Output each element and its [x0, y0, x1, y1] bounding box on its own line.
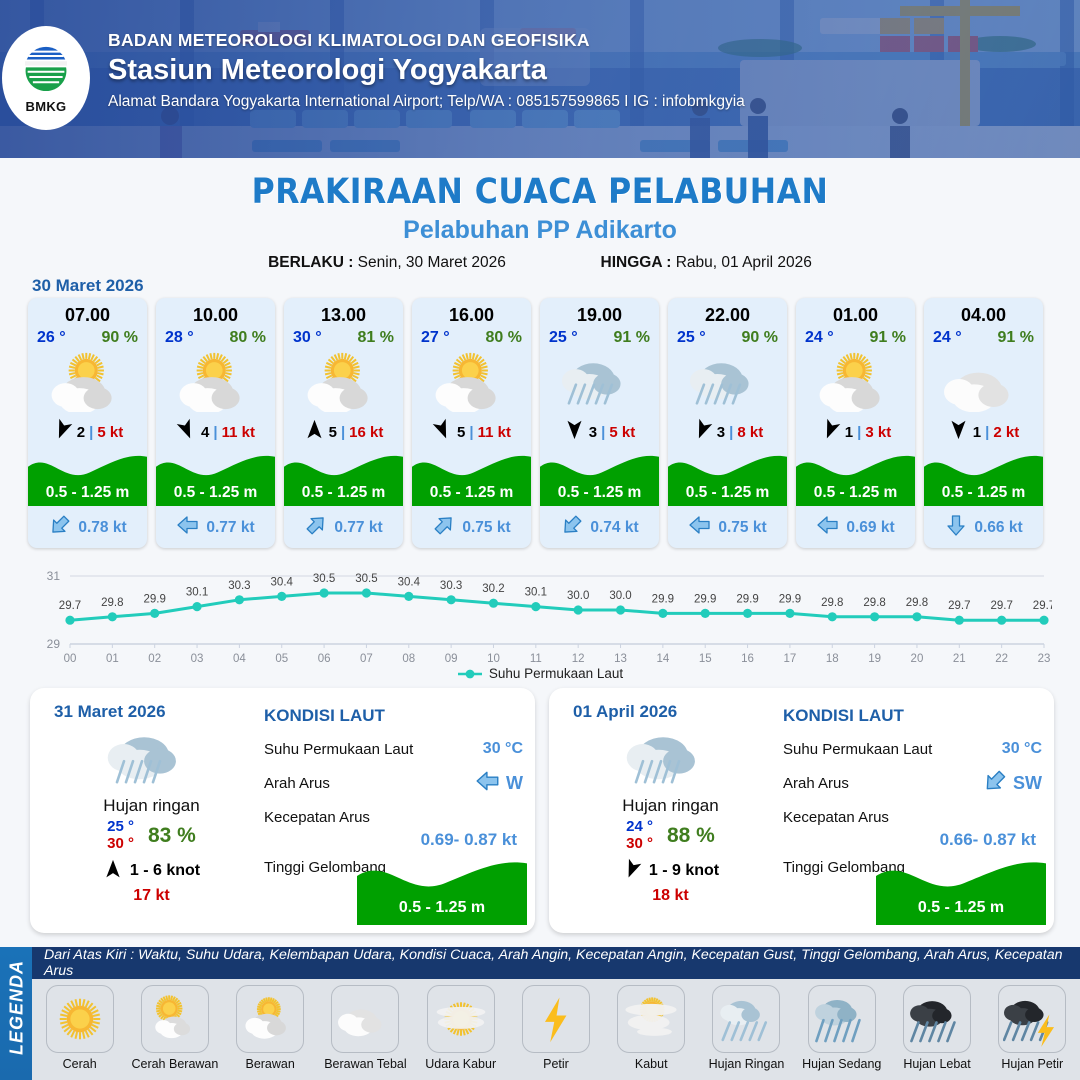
gust-value: 5 kt	[97, 424, 123, 441]
forecast-humidity: 90 %	[742, 329, 778, 347]
current-direction-arrow-icon	[944, 513, 968, 542]
wave-height-block: 0.5 - 1.25 m	[28, 450, 147, 506]
current-speed-label: Kecepatan Arus	[783, 809, 889, 826]
current-speed-value: 0.75 kt	[462, 519, 510, 537]
current-direction-value-group: W	[475, 768, 523, 799]
current-speed-row: Kecepatan Arus	[264, 800, 523, 834]
forecast-card: 16.00 27 ° 80 % 5 | 11 kt 0.5 - 1.25 m 0…	[412, 298, 531, 548]
legend-item-label: Petir	[543, 1057, 569, 1071]
wave-height-block: 0.5 - 1.25 m	[540, 450, 659, 506]
day-wave-value: 0.5 - 1.25 m	[357, 899, 527, 917]
wind-speed-value: 1	[973, 424, 981, 441]
weather-sun-cloud-icon	[412, 349, 531, 413]
forecast-temp-hum-row: 25 ° 91 %	[540, 326, 659, 347]
legend-rain-heavy-icon	[903, 985, 971, 1053]
wave-height-block: 0.5 - 1.25 m	[412, 450, 531, 506]
current-direction-arrow-icon	[688, 513, 712, 542]
svg-text:29.9: 29.9	[144, 593, 166, 605]
day-summary-panel: 31 Maret 2026 Hujan ringan 25 ° 30 ° 83 …	[30, 688, 535, 933]
legend-item-label: Berawan Tebal	[324, 1057, 406, 1071]
legend-item: Berawan Tebal	[318, 979, 413, 1080]
svg-text:03: 03	[191, 653, 204, 665]
wave-height-value: 0.5 - 1.25 m	[156, 484, 275, 502]
forecast-wind-row: 5 | 16 kt	[284, 417, 403, 447]
svg-text:20: 20	[911, 653, 924, 665]
forecast-time: 19.00	[540, 305, 659, 326]
weather-sun-cloud-icon	[28, 349, 147, 413]
day-wind-range: 1 - 6 knot	[130, 862, 200, 880]
wind-direction-arrow-icon	[304, 419, 325, 445]
legend-rain-thunder-icon	[998, 985, 1066, 1053]
forecast-temperature: 27 °	[421, 329, 450, 347]
svg-text:29.8: 29.8	[906, 597, 928, 609]
day-gust: 17 kt	[44, 887, 259, 905]
weather-sun-cloud-icon	[284, 349, 403, 413]
current-direction-arrow-icon	[48, 513, 72, 542]
current-direction-row: Arah Arus W	[264, 766, 523, 800]
chart-legend-label: Suhu Permukaan Laut	[489, 666, 623, 681]
legend-sun-cloud-small-icon	[141, 985, 209, 1053]
wind-direction-arrow-icon	[692, 419, 713, 445]
wind-direction-arrow-icon	[103, 859, 123, 884]
wind-separator: |	[341, 424, 345, 441]
weather-rain-light-icon	[563, 722, 778, 792]
forecast-time: 13.00	[284, 305, 403, 326]
svg-text:19: 19	[868, 653, 881, 665]
wind-speed-value: 5	[329, 424, 337, 441]
svg-text:00: 00	[64, 653, 77, 665]
legend-item-label: Hujan Lebat	[903, 1057, 970, 1071]
day-wave-value: 0.5 - 1.25 m	[876, 899, 1046, 917]
forecast-temp-hum-row: 24 ° 91 %	[796, 326, 915, 347]
current-speed-label: Kecepatan Arus	[264, 809, 370, 826]
wind-direction-arrow-icon	[432, 419, 453, 445]
weather-sun-cloud-icon	[796, 349, 915, 413]
svg-text:29.9: 29.9	[779, 593, 801, 605]
day-left-block: Hujan ringan 25 ° 30 ° 83 % 1 - 6 knot 1…	[44, 722, 259, 905]
svg-text:30.4: 30.4	[271, 576, 294, 588]
forecast-temp-hum-row: 25 ° 90 %	[668, 326, 787, 347]
forecast-time: 16.00	[412, 305, 531, 326]
svg-text:29.8: 29.8	[821, 597, 843, 609]
legend-rain-light-icon	[712, 985, 780, 1053]
svg-text:29.7: 29.7	[990, 600, 1012, 612]
svg-text:29.9: 29.9	[694, 593, 716, 605]
forecast-temperature: 25 °	[677, 329, 706, 347]
chart-legend-marker-icon	[457, 668, 483, 680]
legend-side-title: LEGENDA	[7, 958, 28, 1058]
svg-text:29.9: 29.9	[652, 593, 674, 605]
forecast-temperature: 25 °	[549, 329, 578, 347]
current-direction-arrow-icon	[816, 513, 840, 542]
svg-text:30.0: 30.0	[567, 590, 589, 602]
forecast-humidity: 91 %	[870, 329, 906, 347]
legend-item-label: Udara Kabur	[425, 1057, 496, 1071]
current-row: 0.75 kt	[412, 513, 531, 542]
page-subtitle: Pelabuhan PP Adikarto	[0, 216, 1080, 245]
current-direction-arrow-icon	[475, 768, 501, 799]
sst-row: Suhu Permukaan Laut 30 °C	[264, 732, 523, 766]
wind-direction-arrow-icon	[820, 419, 841, 445]
wind-separator: |	[213, 424, 217, 441]
wave-height-block: 0.5 - 1.25 m	[284, 450, 403, 506]
forecast-temperature: 24 °	[805, 329, 834, 347]
svg-text:07: 07	[360, 653, 373, 665]
day-wind-row: 1 - 6 knot	[44, 859, 259, 884]
legend-item: Berawan	[223, 979, 318, 1080]
legend-bar: LEGENDA Dari Atas Kiri : Waktu, Suhu Uda…	[0, 947, 1080, 1080]
svg-text:30.3: 30.3	[228, 580, 250, 592]
weather-sun-cloud-icon	[156, 349, 275, 413]
day-condition: Hujan ringan	[44, 796, 259, 816]
forecast-card-row: 07.00 26 ° 90 % 2 | 5 kt 0.5 - 1.25 m 0.…	[28, 298, 1043, 548]
legend-sun-cloud-icon	[236, 985, 304, 1053]
legend-item-label: Berawan	[245, 1057, 294, 1071]
current-speed-row: Kecepatan Arus	[783, 800, 1042, 834]
legend-item: Cerah Berawan	[127, 979, 222, 1080]
svg-text:29.8: 29.8	[863, 597, 885, 609]
legend-item-label: Cerah Berawan	[131, 1057, 218, 1071]
day-temp-min: 25 °	[107, 819, 134, 836]
legend-item-label: Hujan Petir	[1001, 1057, 1063, 1071]
forecast-temperature: 26 °	[37, 329, 66, 347]
forecast-time: 22.00	[668, 305, 787, 326]
legend-lightning-icon	[522, 985, 590, 1053]
forecast-card: 13.00 30 ° 81 % 5 | 16 kt 0.5 - 1.25 m 0…	[284, 298, 403, 548]
forecast-humidity: 91 %	[998, 329, 1034, 347]
valid-until-label: HINGGA :	[601, 254, 672, 271]
svg-text:30.0: 30.0	[609, 590, 631, 602]
svg-text:16: 16	[741, 653, 754, 665]
current-speed-value: 0.66 kt	[974, 519, 1022, 537]
day-wind-row: 1 - 9 knot	[563, 859, 778, 884]
bmkg-logo-mark	[18, 42, 74, 98]
legend-icon-row: Cerah Cerah Berawan Berawan Berawan Teba…	[32, 979, 1080, 1080]
day-summary-row: 31 Maret 2026 Hujan ringan 25 ° 30 ° 83 …	[30, 688, 1054, 933]
wind-speed-value: 1	[845, 424, 853, 441]
current-speed-value: 0.78 kt	[78, 519, 126, 537]
weather-rain-light-icon	[44, 722, 259, 792]
current-row: 0.66 kt	[924, 513, 1043, 542]
forecast-wind-row: 3 | 8 kt	[668, 417, 787, 447]
forecast-temp-hum-row: 30 ° 81 %	[284, 326, 403, 347]
legend-item: Hujan Sedang	[794, 979, 889, 1080]
gust-value: 11 kt	[222, 424, 255, 441]
gust-value: 16 kt	[349, 424, 383, 441]
gust-value: 8 kt	[737, 424, 763, 441]
svg-text:15: 15	[699, 653, 712, 665]
forecast-humidity: 80 %	[486, 329, 522, 347]
legend-note: Dari Atas Kiri : Waktu, Suhu Udara, Kele…	[32, 947, 1080, 979]
day-wave-block: 0.5 - 1.25 m	[876, 855, 1046, 925]
wind-direction-arrow-icon	[176, 419, 197, 445]
sst-line-chart: 312929.729.829.930.130.330.430.530.530.4…	[28, 560, 1052, 670]
legend-note-bar: Dari Atas Kiri : Waktu, Suhu Udara, Kele…	[32, 947, 1080, 979]
day-summary-panel: 01 April 2026 Hujan ringan 24 ° 30 ° 88 …	[549, 688, 1054, 933]
forecast-card: 07.00 26 ° 90 % 2 | 5 kt 0.5 - 1.25 m 0.…	[28, 298, 147, 548]
weather-rain-light-icon	[668, 349, 787, 413]
current-row: 0.77 kt	[156, 513, 275, 542]
day-date: 01 April 2026	[573, 702, 677, 722]
forecast-wind-row: 5 | 11 kt	[412, 417, 531, 447]
forecast-temp-hum-row: 26 ° 90 %	[28, 326, 147, 347]
legend-sun-icon	[46, 985, 114, 1053]
forecast-temp-hum-row: 24 ° 91 %	[924, 326, 1043, 347]
sst-chart: 312929.729.829.930.130.330.430.530.530.4…	[28, 560, 1052, 670]
svg-text:04: 04	[233, 653, 246, 665]
forecast-wind-row: 2 | 5 kt	[28, 417, 147, 447]
forecast-card: 19.00 25 ° 91 % 3 | 5 kt 0.5 - 1.25 m 0.…	[540, 298, 659, 548]
current-speed-value: 0.77 kt	[206, 519, 254, 537]
wind-separator: |	[729, 424, 733, 441]
current-speed-value: 0.74 kt	[590, 519, 638, 537]
svg-text:30.1: 30.1	[186, 587, 208, 599]
current-direction-arrow-icon	[982, 768, 1008, 799]
forecast-time: 01.00	[796, 305, 915, 326]
title-block: PRAKIRAAN CUACA PELABUHAN Pelabuhan PP A…	[0, 172, 1080, 272]
current-direction-value-group: SW	[982, 768, 1042, 799]
svg-text:30.4: 30.4	[398, 576, 421, 588]
gust-value: 11 kt	[478, 424, 511, 441]
current-direction-label: Arah Arus	[264, 775, 330, 792]
current-direction-arrow-icon	[304, 513, 328, 542]
current-speed-value: 0.69 kt	[846, 519, 894, 537]
chart-legend: Suhu Permukaan Laut	[0, 666, 1080, 681]
page-header: BMKG BADAN METEOROLOGI KLIMATOLOGI DAN G…	[0, 0, 1080, 158]
svg-text:14: 14	[656, 653, 669, 665]
wind-separator: |	[857, 424, 861, 441]
wind-separator: |	[985, 424, 989, 441]
wave-height-block: 0.5 - 1.25 m	[924, 450, 1043, 506]
day-temp-max: 30 °	[107, 836, 134, 853]
wave-height-block: 0.5 - 1.25 m	[796, 450, 915, 506]
svg-text:13: 13	[614, 653, 627, 665]
current-row: 0.74 kt	[540, 513, 659, 542]
wave-height-value: 0.5 - 1.25 m	[924, 484, 1043, 502]
svg-text:08: 08	[402, 653, 415, 665]
forecast-date-label: 30 Maret 2026	[32, 276, 144, 296]
svg-text:01: 01	[106, 653, 119, 665]
wave-height-value: 0.5 - 1.25 m	[28, 484, 147, 502]
current-row: 0.69 kt	[796, 513, 915, 542]
day-date: 31 Maret 2026	[54, 702, 166, 722]
wave-height-value: 0.5 - 1.25 m	[796, 484, 915, 502]
page-title: PRAKIRAAN CUACA PELABUHAN	[0, 172, 1080, 212]
svg-text:12: 12	[572, 653, 585, 665]
header-text-block: BADAN METEOROLOGI KLIMATOLOGI DAN GEOFIS…	[108, 30, 745, 111]
svg-text:30.5: 30.5	[355, 573, 377, 585]
current-row: 0.78 kt	[28, 513, 147, 542]
gust-value: 2 kt	[993, 424, 1019, 441]
legend-haze-icon	[427, 985, 495, 1053]
current-speed-value: 0.66- 0.87 kt	[783, 830, 1036, 850]
svg-text:05: 05	[275, 653, 288, 665]
forecast-humidity: 90 %	[102, 329, 138, 347]
day-temp-min: 24 °	[626, 819, 653, 836]
current-direction-arrow-icon	[176, 513, 200, 542]
sea-conditions-title: KONDISI LAUT	[264, 706, 523, 726]
agency-name: BADAN METEOROLOGI KLIMATOLOGI DAN GEOFIS…	[108, 30, 745, 51]
legend-side-tab: LEGENDA	[0, 947, 32, 1080]
day-left-block: Hujan ringan 24 ° 30 ° 88 % 1 - 9 knot 1…	[563, 722, 778, 905]
valid-from-label: BERLAKU :	[268, 254, 353, 271]
legend-cloud-icon	[331, 985, 399, 1053]
legend-fog-icon	[617, 985, 685, 1053]
gust-value: 3 kt	[865, 424, 891, 441]
legend-item: Petir	[508, 979, 603, 1080]
svg-text:29.9: 29.9	[736, 593, 758, 605]
forecast-temperature: 24 °	[933, 329, 962, 347]
sst-label: Suhu Permukaan Laut	[264, 741, 413, 758]
wave-height-value: 0.5 - 1.25 m	[668, 484, 787, 502]
svg-text:11: 11	[530, 653, 542, 665]
svg-text:30.2: 30.2	[482, 583, 504, 595]
legend-rain-moderate-icon	[808, 985, 876, 1053]
forecast-card: 01.00 24 ° 91 % 1 | 3 kt 0.5 - 1.25 m 0.…	[796, 298, 915, 548]
svg-text:29.7: 29.7	[59, 600, 81, 612]
svg-text:30.1: 30.1	[525, 587, 547, 599]
current-direction-arrow-icon	[432, 513, 456, 542]
legend-item: Udara Kabur	[413, 979, 508, 1080]
legend-item-label: Hujan Ringan	[709, 1057, 785, 1071]
station-name: Stasiun Meteorologi Yogyakarta	[108, 54, 745, 87]
svg-text:17: 17	[784, 653, 797, 665]
svg-text:29: 29	[47, 637, 61, 651]
forecast-wind-row: 1 | 3 kt	[796, 417, 915, 447]
svg-text:23: 23	[1038, 653, 1051, 665]
svg-text:06: 06	[318, 653, 331, 665]
wind-direction-arrow-icon	[622, 859, 642, 884]
day-wind-range: 1 - 9 knot	[649, 862, 719, 880]
wave-height-value: 0.5 - 1.25 m	[540, 484, 659, 502]
forecast-temperature: 30 °	[293, 329, 322, 347]
current-direction-arrow-icon	[560, 513, 584, 542]
day-humidity: 88 %	[667, 824, 715, 848]
svg-text:29.7: 29.7	[948, 600, 970, 612]
legend-item: Hujan Ringan	[699, 979, 794, 1080]
station-address: Alamat Bandara Yogyakarta International …	[108, 93, 745, 111]
legend-item-label: Cerah	[63, 1057, 97, 1071]
wind-separator: |	[469, 424, 473, 441]
wind-speed-value: 3	[717, 424, 725, 441]
wind-direction-arrow-icon	[948, 419, 969, 445]
wind-direction-arrow-icon	[564, 419, 585, 445]
weather-rain-light-icon	[540, 349, 659, 413]
wind-direction-arrow-icon	[52, 419, 73, 445]
sst-value: 30 °C	[483, 740, 523, 758]
day-gust: 18 kt	[563, 887, 778, 905]
wind-separator: |	[601, 424, 605, 441]
wave-height-block: 0.5 - 1.25 m	[156, 450, 275, 506]
current-direction-row: Arah Arus SW	[783, 766, 1042, 800]
svg-text:21: 21	[953, 653, 966, 665]
svg-text:31: 31	[47, 569, 61, 583]
forecast-temp-hum-row: 27 ° 80 %	[412, 326, 531, 347]
day-wave-block: 0.5 - 1.25 m	[357, 855, 527, 925]
legend-item: Kabut	[604, 979, 699, 1080]
current-direction-value: SW	[1013, 773, 1042, 794]
weather-cloud-icon	[924, 349, 1043, 413]
svg-text:30.5: 30.5	[313, 573, 335, 585]
current-speed-value: 0.75 kt	[718, 519, 766, 537]
svg-text:30.3: 30.3	[440, 580, 462, 592]
forecast-time: 10.00	[156, 305, 275, 326]
current-speed-value: 0.77 kt	[334, 519, 382, 537]
day-temp-column: 24 ° 30 °	[626, 819, 653, 853]
svg-text:02: 02	[148, 653, 161, 665]
wave-height-value: 0.5 - 1.25 m	[284, 484, 403, 502]
forecast-humidity: 81 %	[358, 329, 394, 347]
sst-label: Suhu Permukaan Laut	[783, 741, 932, 758]
wind-separator: |	[89, 424, 93, 441]
legend-item-label: Hujan Sedang	[802, 1057, 881, 1071]
wind-speed-value: 3	[589, 424, 597, 441]
bmkg-logo: BMKG	[2, 26, 90, 130]
forecast-time: 07.00	[28, 305, 147, 326]
forecast-humidity: 91 %	[614, 329, 650, 347]
wind-speed-value: 4	[201, 424, 209, 441]
svg-text:09: 09	[445, 653, 458, 665]
sea-conditions-title: KONDISI LAUT	[783, 706, 1042, 726]
gust-value: 5 kt	[609, 424, 635, 441]
wave-height-block: 0.5 - 1.25 m	[668, 450, 787, 506]
forecast-humidity: 80 %	[230, 329, 266, 347]
svg-text:29.7: 29.7	[1033, 600, 1052, 612]
svg-text:18: 18	[826, 653, 839, 665]
forecast-card: 22.00 25 ° 90 % 3 | 8 kt 0.5 - 1.25 m 0.…	[668, 298, 787, 548]
forecast-card: 10.00 28 ° 80 % 4 | 11 kt 0.5 - 1.25 m 0…	[156, 298, 275, 548]
legend-item: Hujan Lebat	[889, 979, 984, 1080]
sst-value: 30 °C	[1002, 740, 1042, 758]
day-temp-hum: 24 ° 30 ° 88 %	[563, 819, 778, 853]
current-direction-value: W	[506, 773, 523, 794]
day-temp-column: 25 ° 30 °	[107, 819, 134, 853]
day-temp-max: 30 °	[626, 836, 653, 853]
svg-text:29.8: 29.8	[101, 597, 123, 609]
valid-from-value: Senin, 30 Maret 2026	[358, 254, 506, 271]
wind-speed-value: 5	[457, 424, 465, 441]
forecast-temp-hum-row: 28 ° 80 %	[156, 326, 275, 347]
wind-speed-value: 2	[77, 424, 85, 441]
forecast-temperature: 28 °	[165, 329, 194, 347]
day-condition: Hujan ringan	[563, 796, 778, 816]
svg-text:10: 10	[487, 653, 500, 665]
current-row: 0.77 kt	[284, 513, 403, 542]
validity-row: BERLAKU : Senin, 30 Maret 2026 HINGGA : …	[0, 254, 1080, 272]
forecast-wind-row: 1 | 2 kt	[924, 417, 1043, 447]
legend-item: Cerah	[32, 979, 127, 1080]
forecast-wind-row: 4 | 11 kt	[156, 417, 275, 447]
wave-height-value: 0.5 - 1.25 m	[412, 484, 531, 502]
forecast-card: 04.00 24 ° 91 % 1 | 2 kt 0.5 - 1.25 m 0.…	[924, 298, 1043, 548]
current-direction-label: Arah Arus	[783, 775, 849, 792]
forecast-time: 04.00	[924, 305, 1043, 326]
valid-until-value: Rabu, 01 April 2026	[676, 254, 812, 271]
day-temp-hum: 25 ° 30 ° 83 %	[44, 819, 259, 853]
day-humidity: 83 %	[148, 824, 196, 848]
bmkg-logo-text: BMKG	[26, 99, 67, 114]
sst-row: Suhu Permukaan Laut 30 °C	[783, 732, 1042, 766]
forecast-wind-row: 3 | 5 kt	[540, 417, 659, 447]
legend-item: Hujan Petir	[985, 979, 1080, 1080]
current-speed-value: 0.69- 0.87 kt	[264, 830, 517, 850]
svg-text:22: 22	[995, 653, 1008, 665]
legend-item-label: Kabut	[635, 1057, 668, 1071]
current-row: 0.75 kt	[668, 513, 787, 542]
